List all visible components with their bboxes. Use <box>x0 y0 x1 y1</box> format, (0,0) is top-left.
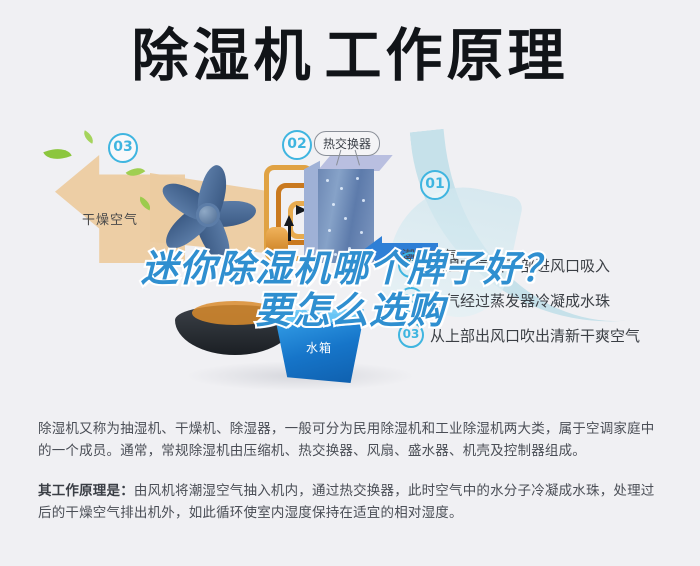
badge-heat-exchanger: 02 <box>282 130 312 160</box>
step-text: 空气经过蒸发器冷凝成水珠 <box>430 290 610 311</box>
step-badge: 02 <box>398 287 424 313</box>
page-title: 除湿机工作原理 <box>0 24 700 88</box>
step-badge: 01 <box>398 252 424 278</box>
process-step: 01 潮湿空气由下部进风口吸入 <box>398 252 698 278</box>
step-text: 从上部出风口吹出清新干爽空气 <box>430 325 640 346</box>
water-tank-label: 水箱 <box>306 339 332 356</box>
body-paragraph-1: 除湿机又称为抽湿机、干燥机、除湿器，一般可分为民用除湿机和工业除湿机两大类，属于… <box>38 418 662 462</box>
water-tank-lip-icon <box>268 309 364 323</box>
title-main: 除湿机 <box>132 23 315 89</box>
body-paragraph-2-label: 其工作原理是： <box>38 483 134 499</box>
body-paragraph-2: 其工作原理是：由风机将潮湿空气抽入机内，通过热交换器，此时空气中的水分子冷凝成水… <box>38 480 662 524</box>
step-badge: 03 <box>398 322 424 348</box>
badge-humid-air: 01 <box>420 170 450 200</box>
page-root: 除湿机工作原理 干燥空气 <box>0 0 700 566</box>
step-text: 潮湿空气由下部进风口吸入 <box>430 255 610 276</box>
leaf-icon <box>81 130 96 143</box>
process-step: 02 空气经过蒸发器冷凝成水珠 <box>398 287 698 313</box>
process-step: 03 从上部出风口吹出清新干爽空气 <box>398 322 698 348</box>
badge-dry-air: 03 <box>108 133 138 163</box>
leaf-icon <box>43 143 71 165</box>
process-step-list: 01 潮湿空气由下部进风口吸入 02 空气经过蒸发器冷凝成水珠 03 从上部出风… <box>398 252 698 357</box>
dry-air-label: 干燥空气 <box>82 209 138 228</box>
title-sub: 工作原理 <box>325 23 569 89</box>
article-body: 除湿机又称为抽湿机、干燥机、除湿器，一般可分为民用除湿机和工业除湿机两大类，属于… <box>38 418 662 524</box>
air-intake-arrow-head-icon <box>362 236 382 266</box>
machine-base-ring-icon <box>192 301 278 325</box>
fan-icon <box>160 167 270 267</box>
